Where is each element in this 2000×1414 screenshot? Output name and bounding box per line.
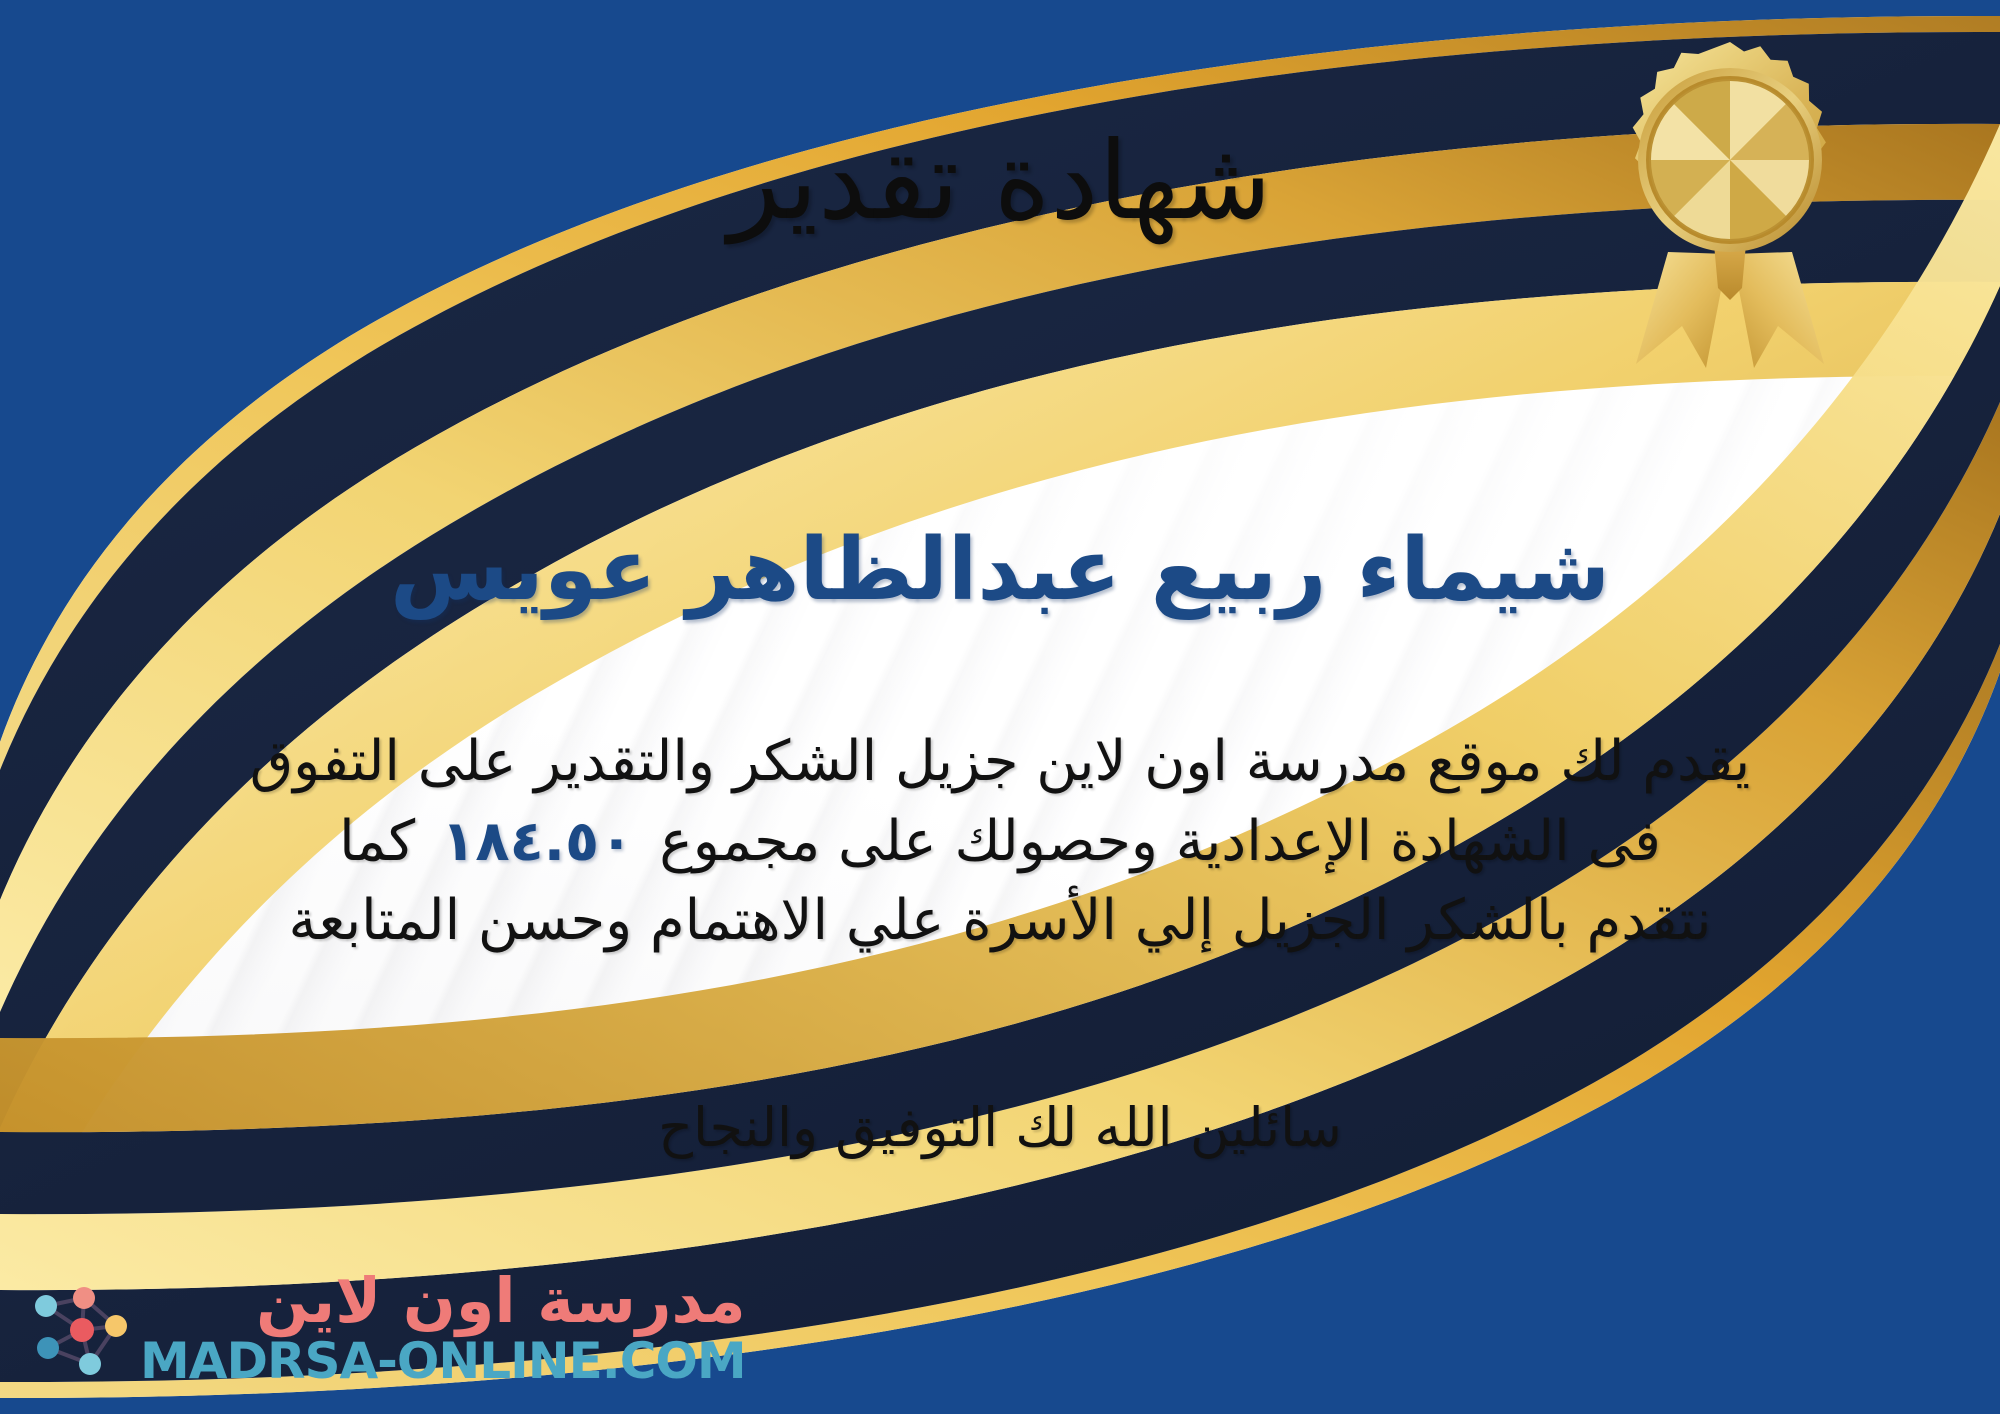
certificate-canvas: شهادة تقدير شيماء ربيع عبدالظاهر عويس يق…: [0, 0, 2000, 1414]
medal-face: [1650, 80, 1810, 240]
brand-arabic-name: مدرسة اون لاين: [256, 1270, 746, 1332]
total-score-value: ١٨٤.٥٠: [415, 809, 659, 874]
body-line-1: يقدم لك موقع مدرسة اون لاين جزيل الشكر و…: [70, 722, 1930, 802]
brand-logo[interactable]: مدرسة اون لاين MADRSA-ONLINE.COM: [24, 1270, 746, 1386]
gold-rosette-medal-icon: [1596, 38, 1864, 368]
brand-text-block: مدرسة اون لاين MADRSA-ONLINE.COM: [140, 1270, 746, 1386]
medal-scalloped-edge: [1633, 42, 1826, 252]
closing-wish: سائلين الله لك التوفيق والنجاح: [0, 1090, 2000, 1166]
brand-website: MADRSA-ONLINE.COM: [140, 1336, 746, 1386]
body-line-2-suffix: كما: [339, 809, 415, 874]
network-nodes-icon: [24, 1274, 132, 1382]
recipient-name: شيماء ربيع عبدالظاهر عويس: [0, 517, 2000, 625]
body-line-2-prefix: فى الشهادة الإعدادية وحصولك على مجموع: [659, 809, 1661, 874]
certificate-body: يقدم لك موقع مدرسة اون لاين جزيل الشكر و…: [70, 722, 1930, 961]
body-line-3: نتقدم بالشكر الجزيل إلي الأسرة علي الاهت…: [70, 881, 1930, 961]
medal-ribbon-tails: [1636, 244, 1824, 368]
body-line-2: فى الشهادة الإعدادية وحصولك على مجموع١٨٤…: [70, 802, 1930, 882]
